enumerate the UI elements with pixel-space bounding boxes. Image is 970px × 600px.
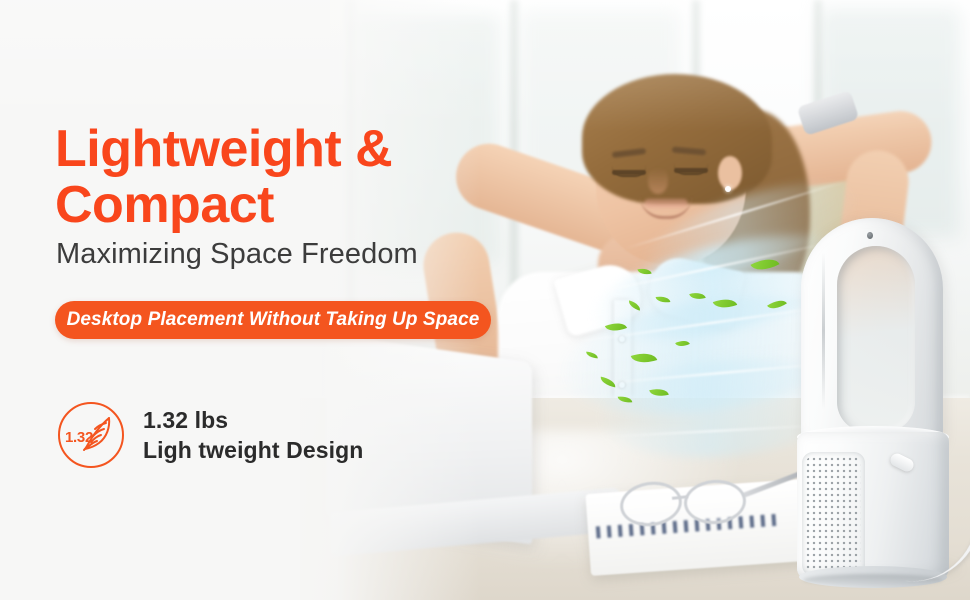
feature-weight-caption: Ligh tweight Design [143,437,363,464]
fan-air-aperture [837,246,915,432]
power-cord [885,460,970,589]
weight-feature-text: 1.32 lbs Ligh tweight Design [143,407,363,464]
shirt-button [619,382,625,388]
product-banner: Lightweight & Compact Maximizing Space F… [0,0,970,600]
weight-badge: 1.32 [58,402,124,468]
headline-line-1: Lightweight & [55,120,392,178]
fan-loop-seam [822,252,825,410]
weight-feature: 1.32 1.32 lbs Ligh tweight Design [58,402,363,468]
headline-line-2: Compact [55,178,485,234]
page-title: Lightweight & Compact [55,122,485,233]
feature-pill-label: Desktop Placement Without Taking Up Spac… [67,309,480,331]
fan-intake-grille [805,456,861,572]
shirt-button [619,336,625,342]
fan-sensor-icon [867,232,873,239]
ear [718,156,742,190]
subheadline: Maximizing Space Freedom [56,238,418,271]
earring [725,186,731,192]
feather-icon [82,415,114,455]
marketing-copy: Lightweight & Compact Maximizing Space F… [0,0,520,600]
hair [582,74,772,204]
bladeless-fan-product [795,218,970,600]
feature-pill-banner: Desktop Placement Without Taking Up Spac… [55,301,491,339]
nose [648,168,668,194]
fan-loop [801,218,943,456]
feature-weight-value: 1.32 lbs [143,407,363,434]
